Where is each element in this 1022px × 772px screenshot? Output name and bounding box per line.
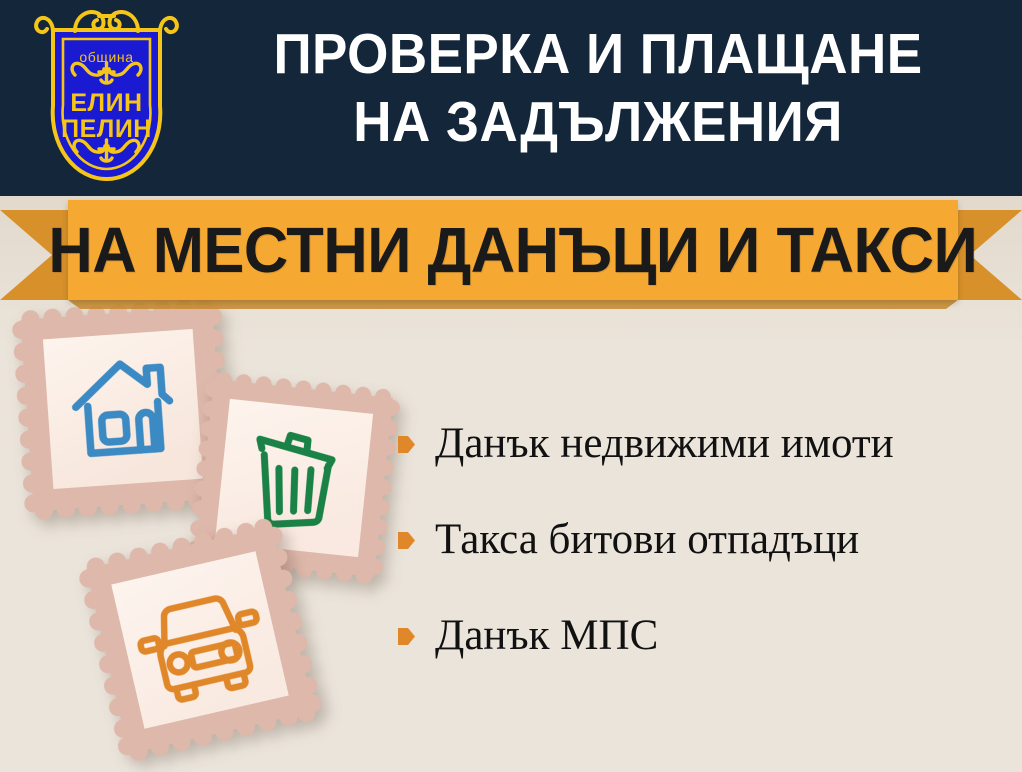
arrow-bullet-icon	[398, 435, 415, 454]
tax-type-list: Данък недвижими имоти Такса битови отпад…	[398, 418, 1008, 662]
ribbon-main-panel: НА МЕСТНИ ДАНЪЦИ И ТАКСИ	[68, 200, 958, 300]
list-item-label: Данък МПС	[435, 610, 658, 662]
list-item: Данък недвижими имоти	[398, 418, 1008, 470]
page-title: ПРОВЕРКА И ПЛАЩАНЕ НА ЗАДЪЛЖЕНИЯ	[215, 20, 981, 156]
list-item-label: Такса битови отпадъци	[435, 514, 859, 566]
ribbon-fold-shadow	[68, 300, 958, 309]
crest-line-1: ЕЛИН	[70, 89, 142, 117]
ribbon-label: НА МЕСТНИ ДАНЪЦИ И ТАКСИ	[49, 218, 978, 282]
arrow-bullet-icon	[398, 627, 415, 646]
poster-header: община ЕЛИН ПЕЛИН	[0, 0, 1022, 196]
arrow-bullet-icon	[398, 531, 415, 550]
list-item-label: Данък недвижими имоти	[435, 418, 894, 470]
coat-of-arms: община ЕЛИН ПЕЛИН	[33, 8, 180, 186]
poster-canvas: община ЕЛИН ПЕЛИН	[0, 0, 1022, 772]
ribbon-banner: НА МЕСТНИ ДАНЪЦИ И ТАКСИ	[0, 196, 1022, 308]
list-item: Данък МПС	[398, 610, 1008, 662]
list-item: Такса битови отпадъци	[398, 514, 1008, 566]
